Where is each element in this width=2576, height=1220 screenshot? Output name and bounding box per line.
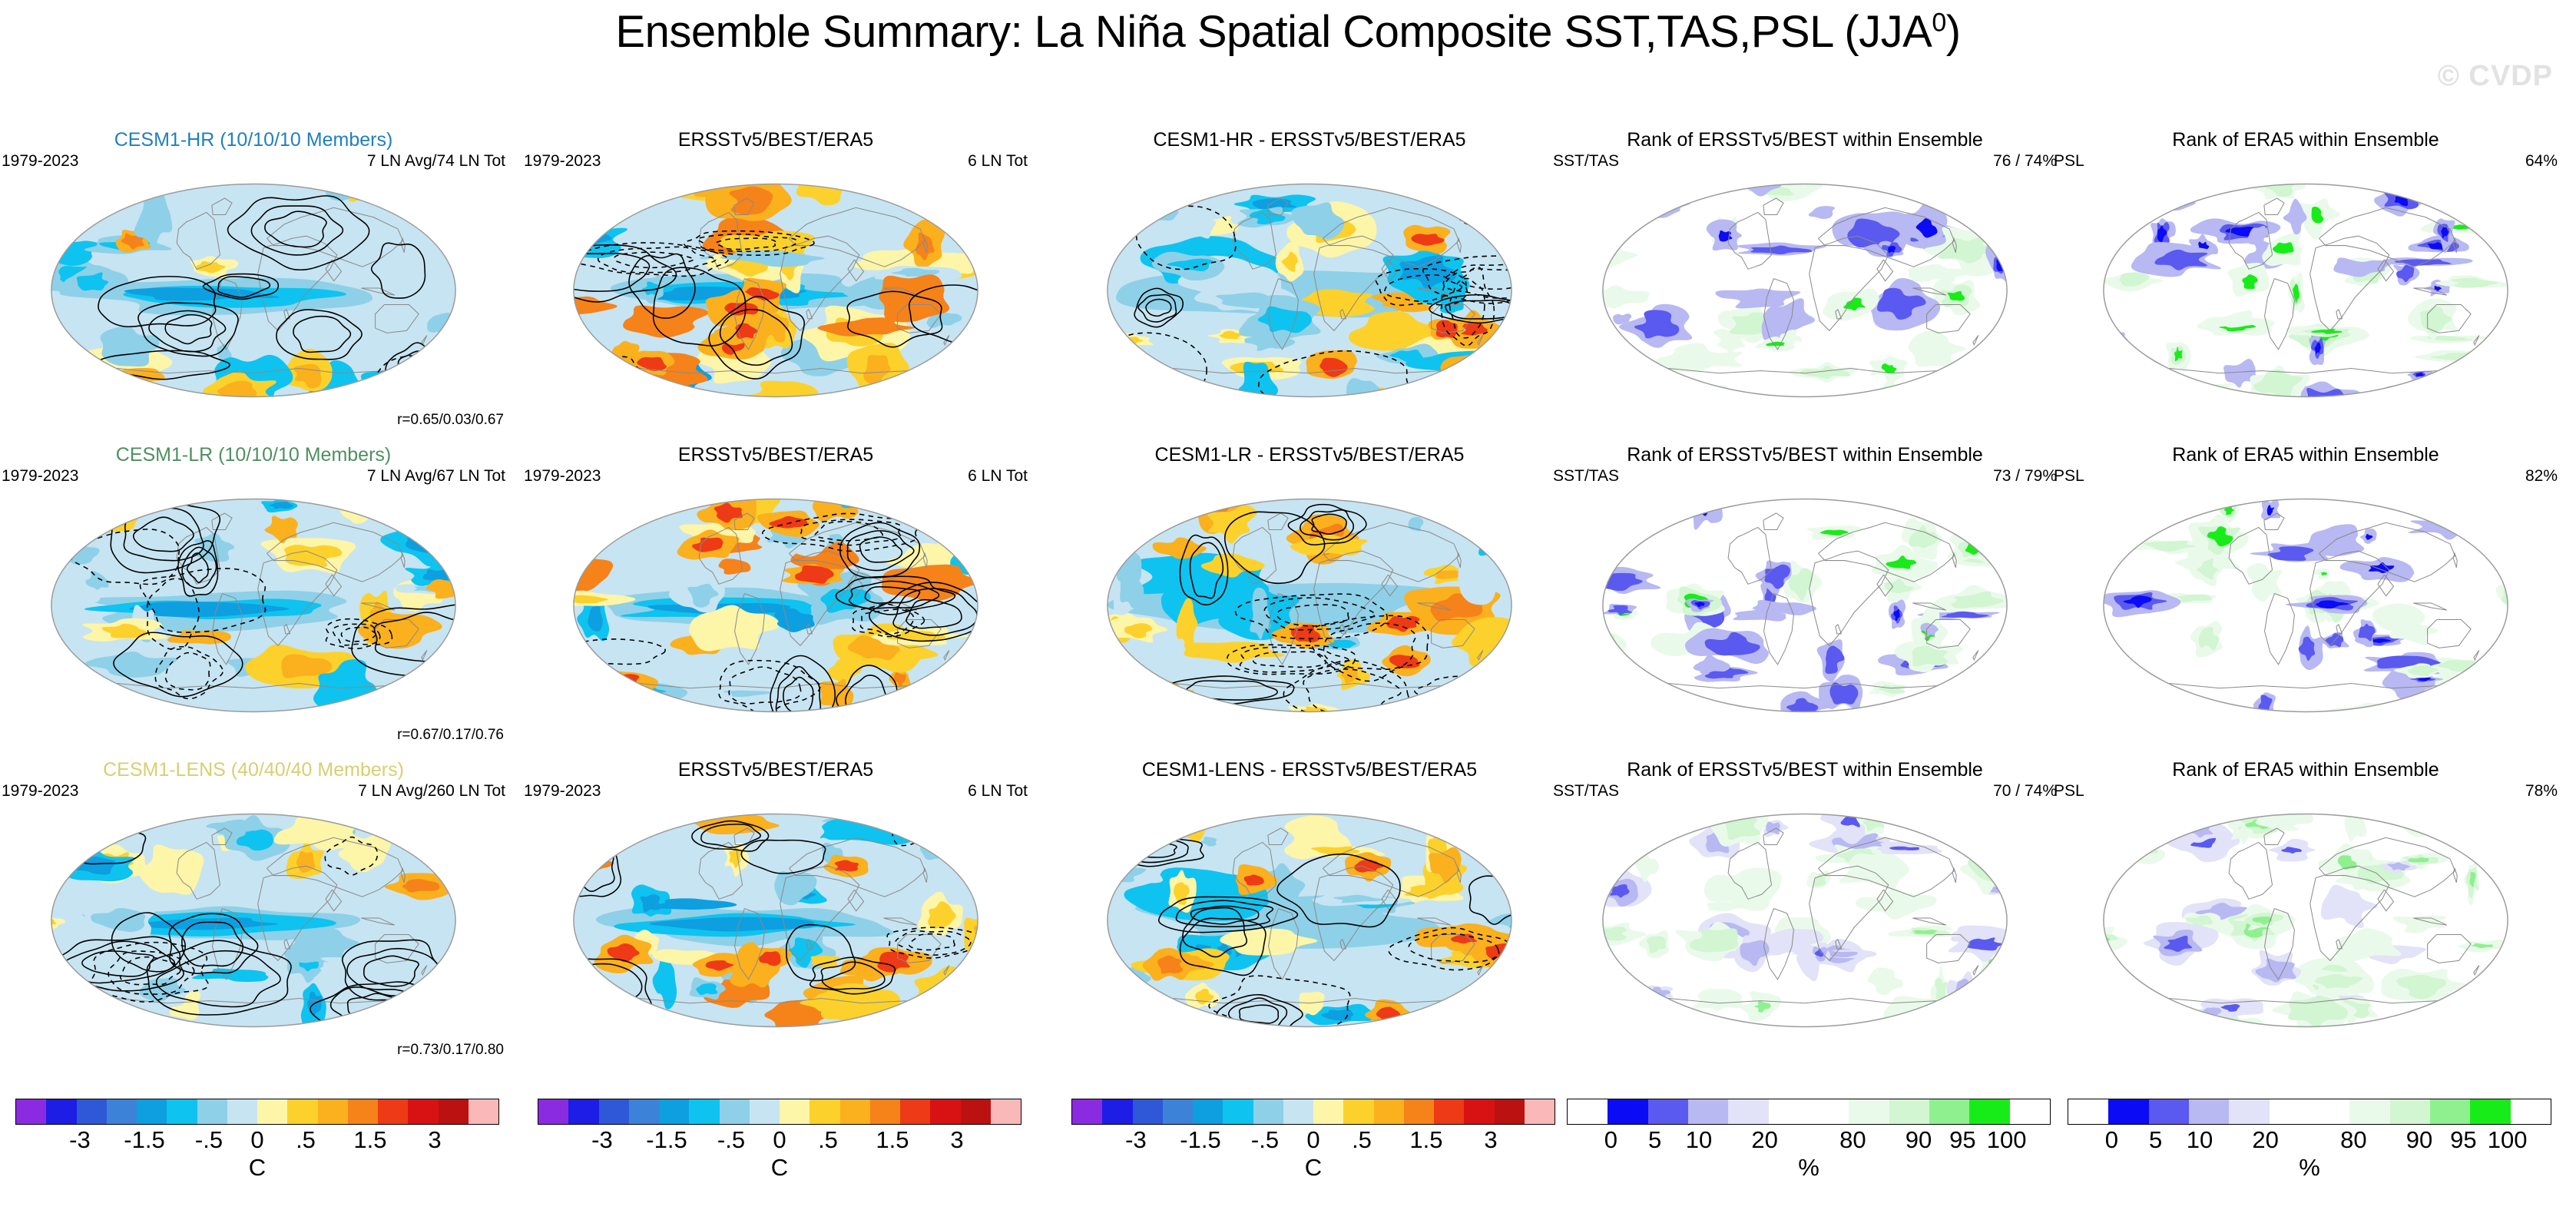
map-globe bbox=[1056, 782, 1563, 1059]
colorbar-tick-label: 3 bbox=[428, 1126, 441, 1154]
panel-rank-psl-row3: Rank of ERA5 within EnsemblePSL78% bbox=[2052, 759, 2559, 1066]
panel-rank-sst-row2: Rank of ERSSTv5/BEST within EnsembleSST/… bbox=[1551, 444, 2058, 751]
figure-canvas: Ensemble Summary: La Niña Spatial Compos… bbox=[0, 0, 2576, 1220]
colorbar-segment-6 bbox=[1253, 1099, 1283, 1124]
colorbar-segment-6 bbox=[197, 1099, 227, 1124]
colorbar-strip bbox=[1567, 1099, 2051, 1125]
colorbar-segment-3 bbox=[107, 1099, 137, 1124]
pattern-correlation-label: r=0.73/0.17/0.80 bbox=[397, 1042, 504, 1059]
map-globe bbox=[1551, 782, 2058, 1059]
panel-rank-sst-row3: Rank of ERSSTv5/BEST within EnsembleSST/… bbox=[1551, 759, 2058, 1066]
page-title: Ensemble Summary: La Niña Spatial Compos… bbox=[0, 6, 2576, 58]
panel-rank-psl-row2: Rank of ERA5 within EnsemblePSL82% bbox=[2052, 444, 2559, 751]
map-globe bbox=[2052, 152, 2559, 429]
colorbar-ticks: -3-1.5-.50.51.53 bbox=[538, 1126, 1021, 1152]
panel-title: CESM1-LR (10/10/10 Members) bbox=[0, 444, 507, 466]
colorbar-segment-11 bbox=[870, 1099, 900, 1124]
map-globe bbox=[0, 782, 507, 1059]
colorbar-tick-label: 5 bbox=[1648, 1126, 1661, 1154]
map-globe bbox=[0, 152, 507, 429]
map-globe bbox=[0, 467, 507, 744]
panel-title: ERSSTv5/BEST/ERA5 bbox=[522, 759, 1029, 781]
colorbar-tick-label: -3 bbox=[591, 1126, 613, 1154]
panel-title: Rank of ERA5 within Ensemble bbox=[2052, 759, 2559, 781]
colorbar-unit-label: C bbox=[538, 1154, 1021, 1182]
panel-title: ERSSTv5/BEST/ERA5 bbox=[522, 444, 1029, 466]
colorbar-segment-3 bbox=[1163, 1099, 1193, 1124]
colorbar-segment-3 bbox=[1688, 1099, 1728, 1124]
colorbar-tick-label: 90 bbox=[2406, 1126, 2432, 1154]
colorbar-tick-label: 10 bbox=[1686, 1126, 1712, 1154]
colorbar-segment-10 bbox=[2470, 1099, 2510, 1124]
colorbar-segment-4 bbox=[2229, 1099, 2269, 1124]
colorbar-segment-3 bbox=[2189, 1099, 2229, 1124]
colorbar-segment-11 bbox=[1404, 1099, 1434, 1124]
colorbar-segment-1 bbox=[1608, 1099, 1647, 1124]
colorbar-segment-5 bbox=[2270, 1099, 2309, 1124]
colorbar-tick-label: -.5 bbox=[717, 1126, 745, 1154]
pattern-correlation-label: r=0.65/0.03/0.67 bbox=[397, 412, 504, 429]
panel-obs-row2: ERSSTv5/BEST/ERA51979-20236 LN Tot bbox=[522, 444, 1029, 751]
panel-model-row3: CESM1-LENS (40/40/40 Members)1979-20237 … bbox=[0, 759, 507, 1066]
colorbar-unit-label: % bbox=[1567, 1154, 2051, 1182]
panel-rank-psl-row1: Rank of ERA5 within EnsemblePSL64% bbox=[2052, 129, 2559, 436]
colorbar-segment-1 bbox=[46, 1099, 76, 1124]
panel-obs-row3: ERSSTv5/BEST/ERA51979-20236 LN Tot bbox=[522, 759, 1029, 1066]
colorbar-tick-label: -1.5 bbox=[1180, 1126, 1220, 1154]
colorbar-tick-label: 5 bbox=[2149, 1126, 2162, 1154]
colorbar-segment-5 bbox=[689, 1099, 719, 1124]
pattern-correlation-label: r=0.67/0.17/0.76 bbox=[397, 727, 504, 744]
colorbar-tick-label: 1.5 bbox=[876, 1126, 909, 1154]
colorbar-tick-label: -.5 bbox=[195, 1126, 223, 1154]
colorbar-tick-label: 1.5 bbox=[1409, 1126, 1442, 1154]
colorbar-segment-13 bbox=[1464, 1099, 1494, 1124]
colorbar-tick-label: 95 bbox=[2450, 1126, 2476, 1154]
panel-model-row1: CESM1-HR (10/10/10 Members)1979-20237 LN… bbox=[0, 129, 507, 436]
colorbar-tick-label: 3 bbox=[1484, 1126, 1497, 1154]
colorbar-tick-label: 100 bbox=[1987, 1126, 2027, 1154]
map-globe bbox=[522, 152, 1029, 429]
panel-title: CESM1-HR (10/10/10 Members) bbox=[0, 129, 507, 151]
colorbar-segment-0 bbox=[1072, 1099, 1102, 1124]
panel-model-row2: CESM1-LR (10/10/10 Members)1979-20237 LN… bbox=[0, 444, 507, 751]
colorbar-tick-label: 0 bbox=[773, 1126, 786, 1154]
page-title-close: ) bbox=[1946, 7, 1961, 57]
colorbar-tick-label: 20 bbox=[2252, 1126, 2278, 1154]
colorbar-ticks: -3-1.5-.50.51.53 bbox=[1071, 1126, 1555, 1152]
colorbar-segment-9 bbox=[810, 1099, 839, 1124]
colorbar-segment-15 bbox=[991, 1099, 1021, 1124]
colorbar-tick-label: 95 bbox=[1949, 1126, 1975, 1154]
panel-title: ERSSTv5/BEST/ERA5 bbox=[522, 129, 1029, 151]
colorbar-ticks: 051020809095100 bbox=[2068, 1126, 2551, 1152]
colorbar-tick-label: 80 bbox=[1839, 1126, 1866, 1154]
colorbar-segment-8 bbox=[2390, 1099, 2430, 1124]
colorbar-segment-2 bbox=[1648, 1099, 1688, 1124]
colorbar-segment-8 bbox=[1313, 1099, 1343, 1124]
panel-diff-row2: CESM1-LR - ERSSTv5/BEST/ERA5 bbox=[1056, 444, 1563, 751]
colorbar-segment-6 bbox=[720, 1099, 750, 1124]
colorbar-segment-0 bbox=[16, 1099, 46, 1124]
colorbar-segment-12 bbox=[378, 1099, 408, 1124]
colorbar-segment-2 bbox=[599, 1099, 629, 1124]
colorbar-tick-label: -1.5 bbox=[124, 1126, 164, 1154]
colorbar-tick-label: -1.5 bbox=[646, 1126, 687, 1154]
map-globe bbox=[2052, 782, 2559, 1059]
panel-diff-row1: CESM1-HR - ERSSTv5/BEST/ERA5 bbox=[1056, 129, 1563, 436]
colorbar-segment-9 bbox=[1343, 1099, 1373, 1124]
colorbar-ticks: 051020809095100 bbox=[1567, 1126, 2051, 1152]
colorbar-segment-4 bbox=[1728, 1099, 1768, 1124]
colorbar-strip bbox=[2068, 1099, 2551, 1125]
colorbar-tick-label: .5 bbox=[1352, 1126, 1372, 1154]
colorbar-rank-sst: 051020809095100% bbox=[1567, 1099, 2051, 1183]
map-globe bbox=[1551, 152, 2058, 429]
colorbar-tick-label: 80 bbox=[2340, 1126, 2366, 1154]
colorbar-segment-12 bbox=[1434, 1099, 1464, 1124]
colorbar-tick-label: 1.5 bbox=[353, 1126, 386, 1154]
colorbar-segment-7 bbox=[1849, 1099, 1889, 1124]
colorbar-segment-13 bbox=[408, 1099, 438, 1124]
colorbar-tick-label: -3 bbox=[69, 1126, 91, 1154]
panel-title: Rank of ERA5 within Ensemble bbox=[2052, 129, 2559, 151]
colorbar-segment-11 bbox=[348, 1099, 378, 1124]
colorbar-unit-label: C bbox=[15, 1154, 499, 1182]
colorbar-tick-label: 10 bbox=[2187, 1126, 2213, 1154]
colorbar-segment-4 bbox=[137, 1099, 167, 1124]
panel-title: CESM1-LR - ERSSTv5/BEST/ERA5 bbox=[1056, 444, 1563, 466]
colorbar-tick-label: 0 bbox=[1306, 1126, 1319, 1154]
cvdp-watermark: © CVDP bbox=[2438, 60, 2553, 93]
colorbar-tick-label: 100 bbox=[2488, 1126, 2528, 1154]
colorbar-segment-5 bbox=[167, 1099, 197, 1124]
colorbar-tick-label: -.5 bbox=[1251, 1126, 1279, 1154]
colorbar-segment-10 bbox=[1969, 1099, 2009, 1124]
colorbar-segment-14 bbox=[961, 1099, 991, 1124]
panel-diff-row3: CESM1-LENS - ERSSTv5/BEST/ERA5 bbox=[1056, 759, 1563, 1066]
colorbar-strip bbox=[15, 1099, 499, 1125]
colorbar-tick-label: 0 bbox=[2105, 1126, 2118, 1154]
colorbar-segment-14 bbox=[1495, 1099, 1525, 1124]
colorbar-segment-2 bbox=[1133, 1099, 1163, 1124]
colorbar-segment-5 bbox=[1223, 1099, 1253, 1124]
colorbar-segment-7 bbox=[2349, 1099, 2389, 1124]
colorbar-segment-9 bbox=[287, 1099, 317, 1124]
colorbar-tick-label: 20 bbox=[1751, 1126, 1777, 1154]
panel-title: CESM1-HR - ERSSTv5/BEST/ERA5 bbox=[1056, 129, 1563, 151]
page-title-text: Ensemble Summary: La Niña Spatial Compos… bbox=[615, 7, 1932, 57]
colorbar-strip bbox=[538, 1099, 1021, 1125]
colorbar-segment-8 bbox=[780, 1099, 810, 1124]
colorbar-segment-10 bbox=[840, 1099, 870, 1124]
map-globe bbox=[1056, 467, 1563, 744]
panel-title: Rank of ERSSTv5/BEST within Ensemble bbox=[1551, 759, 2058, 781]
colorbar-segment-0 bbox=[2068, 1099, 2108, 1124]
panel-title: CESM1-LENS - ERSSTv5/BEST/ERA5 bbox=[1056, 759, 1563, 781]
colorbar-segment-13 bbox=[930, 1099, 960, 1124]
colorbar-segment-11 bbox=[2511, 1099, 2551, 1124]
colorbar-tick-label: .5 bbox=[818, 1126, 838, 1154]
colorbar-segment-11 bbox=[2010, 1099, 2050, 1124]
map-globe bbox=[522, 467, 1029, 744]
colorbar-temperature-diff: -3-1.5-.50.51.53C bbox=[1071, 1099, 1555, 1183]
colorbar-segment-8 bbox=[1889, 1099, 1929, 1124]
panel-title: Rank of ERSSTv5/BEST within Ensemble bbox=[1551, 444, 2058, 466]
colorbar-segment-8 bbox=[257, 1099, 287, 1124]
map-globe bbox=[1056, 152, 1563, 429]
colorbar-segment-14 bbox=[439, 1099, 469, 1124]
colorbar-segment-15 bbox=[469, 1099, 498, 1124]
map-globe bbox=[522, 782, 1029, 1059]
colorbar-segment-1 bbox=[2108, 1099, 2148, 1124]
page-title-superscript: 0 bbox=[1932, 8, 1945, 38]
colorbar-segment-7 bbox=[227, 1099, 257, 1124]
colorbar-ticks: -3-1.5-.50.51.53 bbox=[15, 1126, 499, 1152]
colorbar-unit-label: C bbox=[1071, 1154, 1555, 1182]
colorbar-segment-7 bbox=[750, 1099, 780, 1124]
colorbar-tick-label: 0 bbox=[250, 1126, 263, 1154]
colorbar-segment-10 bbox=[318, 1099, 348, 1124]
colorbar-segment-9 bbox=[2430, 1099, 2470, 1124]
panel-obs-row1: ERSSTv5/BEST/ERA51979-20236 LN Tot bbox=[522, 129, 1029, 436]
colorbar-tick-label: -3 bbox=[1125, 1126, 1147, 1154]
colorbar-tick-label: 3 bbox=[950, 1126, 963, 1154]
colorbar-segment-4 bbox=[1193, 1099, 1223, 1124]
colorbar-segment-10 bbox=[1374, 1099, 1404, 1124]
map-globe bbox=[1551, 467, 2058, 744]
colorbar-segment-0 bbox=[1568, 1099, 1608, 1124]
colorbar-tick-label: 90 bbox=[1906, 1126, 1932, 1154]
colorbar-segment-1 bbox=[568, 1099, 598, 1124]
colorbar-rank-psl: 051020809095100% bbox=[2068, 1099, 2551, 1183]
colorbar-unit-label: % bbox=[2068, 1154, 2551, 1182]
colorbar-temperature-obs: -3-1.5-.50.51.53C bbox=[538, 1099, 1021, 1183]
panel-title: Rank of ERA5 within Ensemble bbox=[2052, 444, 2559, 466]
colorbar-segment-3 bbox=[629, 1099, 659, 1124]
panel-rank-sst-row1: Rank of ERSSTv5/BEST within EnsembleSST/… bbox=[1551, 129, 2058, 436]
colorbar-tick-label: 0 bbox=[1604, 1126, 1617, 1154]
colorbar-segment-4 bbox=[659, 1099, 689, 1124]
colorbar-segment-7 bbox=[1283, 1099, 1313, 1124]
colorbar-tick-label: .5 bbox=[296, 1126, 316, 1154]
panel-title: Rank of ERSSTv5/BEST within Ensemble bbox=[1551, 129, 2058, 151]
colorbar-segment-0 bbox=[538, 1099, 568, 1124]
colorbar-strip bbox=[1071, 1099, 1555, 1125]
colorbar-segment-2 bbox=[2149, 1099, 2189, 1124]
colorbar-temperature-model: -3-1.5-.50.51.53C bbox=[15, 1099, 499, 1183]
colorbar-segment-12 bbox=[900, 1099, 930, 1124]
colorbar-segment-1 bbox=[1102, 1099, 1132, 1124]
panel-title: CESM1-LENS (40/40/40 Members) bbox=[0, 759, 507, 781]
map-globe bbox=[2052, 467, 2559, 744]
colorbar-segment-15 bbox=[1525, 1099, 1555, 1124]
colorbar-segment-9 bbox=[1929, 1099, 1969, 1124]
colorbar-segment-6 bbox=[1809, 1099, 1849, 1124]
colorbar-segment-5 bbox=[1769, 1099, 1809, 1124]
colorbar-segment-2 bbox=[77, 1099, 107, 1124]
colorbar-segment-6 bbox=[2309, 1099, 2349, 1124]
